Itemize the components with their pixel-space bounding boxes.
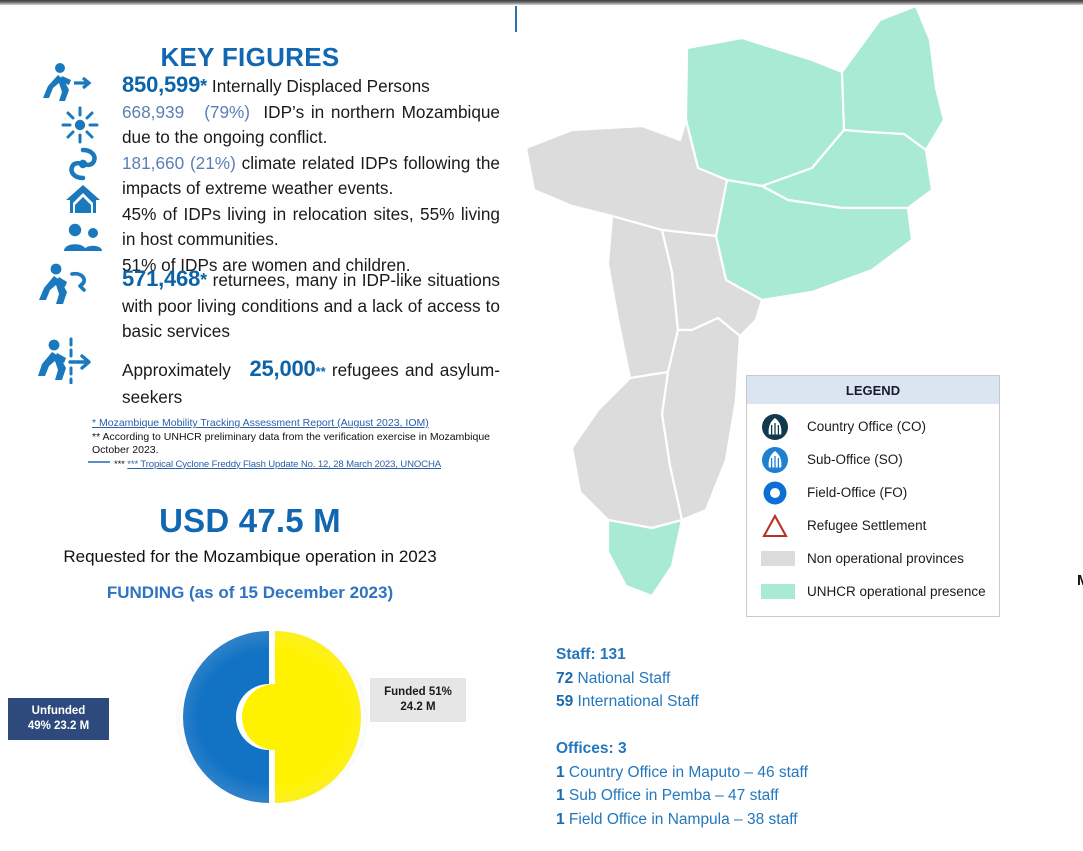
idp-sub1-pct: (79%) (204, 102, 250, 122)
funded-label: Funded 51% (384, 686, 452, 698)
legend-row-field-office: Field-Office (FO) (747, 476, 999, 509)
climate-burst-icon (60, 106, 100, 144)
staff-heading: Staff: 131 (556, 643, 699, 667)
refugees-text: Approximately 25,000** refugees and asyl… (122, 356, 500, 410)
office-count: 1 (556, 811, 565, 828)
unhcr-logo-dark-icon (761, 413, 807, 441)
office-count: 1 (556, 764, 565, 781)
legend-label-operational: UNHCR operational presence (807, 584, 986, 599)
idp-number: 850,599 (122, 72, 200, 97)
footnotes: * Mozambique Mobility Tracking Assessmen… (92, 417, 492, 471)
office-row: 1 Field Office in Nampula – 38 staff (556, 808, 808, 832)
legend-label-refugee-settlement: Refugee Settlement (807, 518, 926, 533)
key-figures-icon-stack (38, 62, 116, 252)
legend-label-sub-office: Sub-Office (SO) (807, 452, 903, 467)
offices-heading: Offices: 3 (556, 737, 808, 761)
office-count: 1 (556, 787, 565, 804)
legend-row-operational: UNHCR operational presence (747, 575, 999, 608)
unfunded-label: Unfunded (32, 705, 86, 717)
idp-label: Internally Displaced Persons (207, 76, 430, 96)
idp-running-person-icon (38, 62, 94, 104)
footnote-1: * Mozambique Mobility Tracking Assessmen… (92, 417, 492, 431)
footnote-1-link[interactable]: * Mozambique Mobility Tracking Assessmen… (92, 417, 429, 429)
refugee-settlement-triangle-icon (761, 513, 807, 539)
returnees-text: 571,468* returnees, many in IDP-like sit… (122, 266, 500, 345)
donut-label-funded: Funded 51% 24.2 M (370, 678, 466, 722)
staff-block: Staff: 131 72 National Staff 59 Internat… (556, 643, 699, 714)
staff-national-number: 72 (556, 670, 573, 687)
map-label-maputo: Maputo (1077, 572, 1083, 589)
funding-section-title: FUNDING (as of 15 December 2023) (0, 583, 500, 603)
returnee-person-icon (36, 262, 94, 306)
province-maputo (608, 520, 682, 596)
office-row: 1 Country Office in Maputo – 46 staff (556, 761, 808, 785)
refugees-number: 25,000 (249, 356, 315, 381)
office-text: Sub Office in Pemba – 47 staff (565, 787, 779, 804)
office-text: Country Office in Maputo – 46 staff (565, 764, 808, 781)
refugees-line: Approximately 25,000** refugees and asyl… (122, 356, 500, 410)
office-row: 1 Sub Office in Pemba – 47 staff (556, 784, 808, 808)
key-figures-text: 850,599* Internally Displaced Persons 66… (122, 72, 500, 278)
field-office-ring-icon (761, 479, 807, 507)
funded-value: 24.2 M (400, 701, 435, 713)
legend-label-field-office: Field-Office (FO) (807, 485, 907, 500)
donut-label-unfunded: Unfunded 49% 23.2 M (8, 698, 109, 740)
idp-sub1: 668,939 (79%) IDP’s in northern Mozambiq… (122, 100, 500, 151)
unfunded-value: 49% 23.2 M (28, 720, 89, 732)
funding-amount: USD 47.5 M (0, 502, 500, 540)
gray-swatch-icon (761, 551, 807, 566)
map-legend: LEGEND Country Office (CO) (746, 375, 1000, 617)
refugees-star: ** (316, 364, 326, 379)
returnees-number: 571,468 (122, 266, 200, 291)
refugees-prefix: Approximately (122, 360, 237, 380)
idp-headline: 850,599* Internally Displaced Persons (122, 72, 500, 100)
footnote-2: ** According to UNHCR preliminary data f… (92, 431, 492, 458)
legend-row-country-office: Country Office (CO) (747, 410, 999, 443)
legend-label-country-office: Country Office (CO) (807, 419, 926, 434)
idp-sub2: 181,660 (21%) climate related IDPs follo… (122, 151, 500, 202)
funding-donut-chart (172, 628, 372, 806)
legend-row-refugee-settlement: Refugee Settlement (747, 509, 999, 542)
legend-items: Country Office (CO) Sub-Office (SO) (747, 404, 999, 616)
staff-international-number: 59 (556, 693, 573, 710)
office-text: Field Office in Nampula – 38 staff (565, 811, 798, 828)
staff-national: 72 National Staff (556, 667, 699, 691)
people-group-icon (60, 222, 106, 252)
refugee-crossing-icon (36, 336, 94, 384)
legend-label-non-operational: Non operational provinces (807, 551, 964, 566)
funding-subtitle: Requested for the Mozambique operation i… (0, 547, 500, 567)
footnote-3-link[interactable]: *** Tropical Cyclone Freddy Flash Update… (127, 459, 441, 470)
idp-sub1-number: 668,939 (122, 102, 184, 122)
cyclone-icon (64, 146, 102, 182)
province-cabo-delgado (842, 6, 944, 150)
shelter-home-icon (62, 182, 104, 216)
unhcr-logo-blue-icon (761, 446, 807, 474)
left-column: KEY FIGURES (0, 0, 512, 851)
staff-international: 59 International Staff (556, 690, 699, 714)
map-panel: Cabo Delgado Niassa Nampula Zambezia Tet… (512, 0, 1083, 851)
province-gaza (572, 372, 682, 528)
returnees-line: 571,468* returnees, many in IDP-like sit… (122, 266, 500, 345)
idp-sub2-number: 181,660 (21%) (122, 153, 236, 173)
offices-block: Offices: 3 1 Country Office in Maputo – … (556, 737, 808, 831)
legend-row-sub-office: Sub-Office (SO) (747, 443, 999, 476)
idp-sub3: 45% of IDPs living in relocation sites, … (122, 202, 500, 253)
green-swatch-icon (761, 584, 807, 599)
legend-title: LEGEND (747, 376, 999, 404)
footnote-3: *** *** Tropical Cyclone Freddy Flash Up… (92, 458, 492, 472)
staff-international-label: International Staff (573, 693, 699, 710)
legend-row-non-operational: Non operational provinces (747, 542, 999, 575)
staff-national-label: National Staff (573, 670, 670, 687)
